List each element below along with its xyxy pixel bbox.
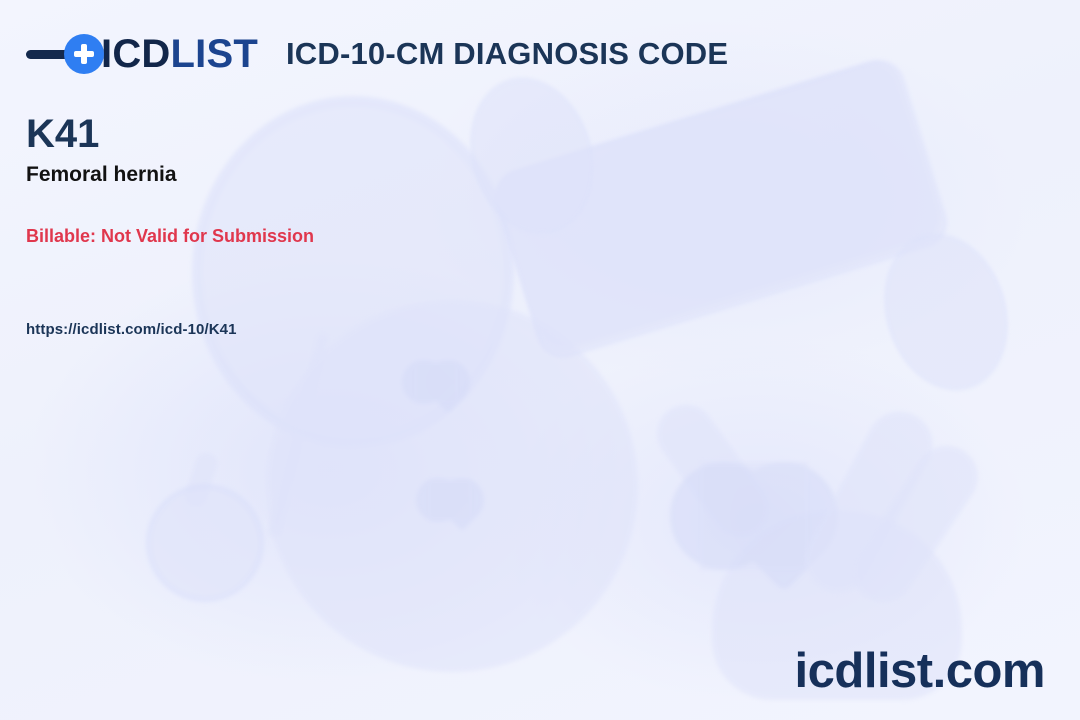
billable-status-badge: Billable: Not Valid for Submission bbox=[26, 226, 726, 248]
hand-finger-shape bbox=[840, 434, 990, 615]
code-url-link[interactable]: https://icdlist.com/icd-10/K41 bbox=[26, 321, 726, 338]
large-heart-icon bbox=[700, 462, 808, 570]
stethoscope-chestpiece-icon bbox=[146, 484, 264, 602]
mask-ear-loop-icon bbox=[865, 218, 1027, 406]
plus-circle-icon bbox=[64, 34, 104, 74]
heart-icon bbox=[428, 478, 472, 522]
page-title: ICD-10-CM DIAGNOSIS CODE bbox=[286, 36, 728, 72]
watermark-base-wash bbox=[0, 0, 1080, 720]
logo-word-list: LIST bbox=[171, 32, 258, 76]
page-header: ICDLIST ICD-10-CM DIAGNOSIS CODE bbox=[26, 26, 728, 82]
stethoscope-tube-icon bbox=[267, 332, 330, 539]
hand-finger-shape bbox=[794, 400, 944, 604]
icd-code-card: ICDLIST ICD-10-CM DIAGNOSIS CODE K41 Fem… bbox=[0, 0, 1080, 720]
footer-brand-wordmark[interactable]: icdlist.com bbox=[795, 647, 1045, 696]
icdlist-logo[interactable]: ICDLIST bbox=[26, 26, 258, 82]
logo-wordmark: ICDLIST bbox=[101, 34, 258, 74]
hand-finger-shape bbox=[645, 393, 780, 548]
diagnosis-description: Femoral hernia bbox=[26, 162, 726, 187]
heart-icon bbox=[414, 360, 458, 404]
stethoscope-stem-icon bbox=[182, 450, 220, 510]
medical-watermark-image bbox=[0, 0, 1080, 720]
plus-vertical-bar bbox=[81, 44, 87, 64]
logo-word-icd: ICD bbox=[101, 32, 171, 76]
code-details: K41 Femoral hernia Billable: Not Valid f… bbox=[26, 112, 726, 338]
diagnosis-code: K41 bbox=[26, 112, 726, 156]
tray-plate-shape bbox=[266, 300, 638, 672]
